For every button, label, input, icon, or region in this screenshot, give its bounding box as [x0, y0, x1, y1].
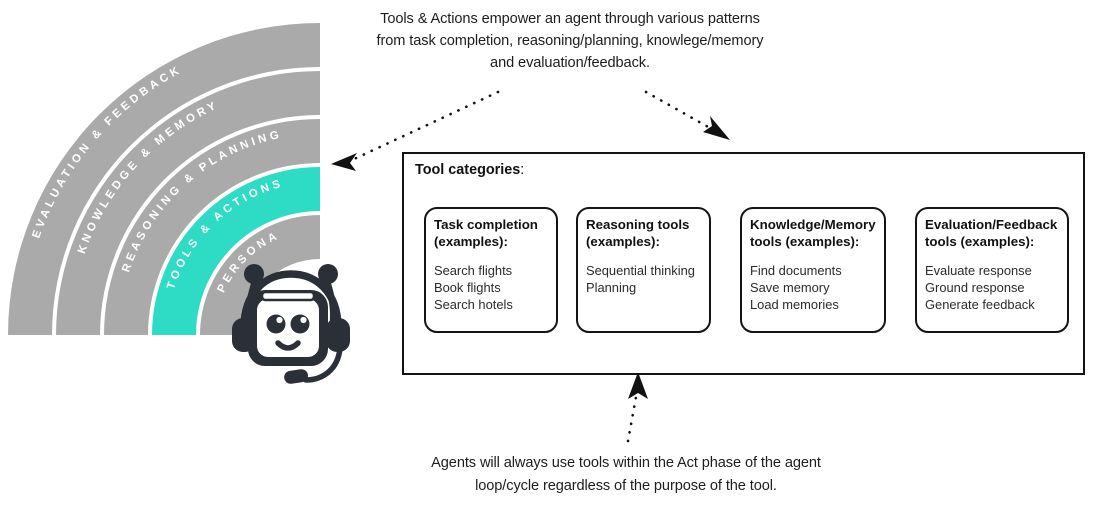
tool-card-task-completion[interactable]: Task completion (examples): Search fligh… [424, 207, 558, 333]
arrow-to-panel [646, 92, 730, 140]
tool-card-reasoning-tools[interactable]: Reasoning tools (examples): Sequential t… [576, 207, 711, 333]
tool-card-knowledge-memory-tools[interactable]: Knowledge/Memory tools (examples): Find … [740, 207, 886, 333]
tool-card-item: Search hotels [434, 297, 556, 314]
panel-title-text: Tool categories [415, 162, 520, 178]
arrowhead [628, 372, 648, 399]
robot-eye-glint-left [276, 317, 282, 323]
robot-eye-right [291, 315, 310, 334]
tool-card-title: Task completion (examples): [434, 216, 556, 250]
tool-card-evaluation-feedback-tools[interactable]: Evaluation/Feedback tools (examples): Ev… [915, 207, 1069, 333]
robot-agent-mascot-icon [222, 252, 354, 384]
robot-visor-slot [262, 292, 314, 300]
top-caption: Tools & Actions empower an agent through… [368, 8, 772, 75]
bottom-caption: Agents will always use tools within the … [398, 452, 854, 497]
tool-categories-panel: Tool categories: Task completion (exampl… [402, 152, 1085, 375]
tool-card-item: Save memory [750, 280, 884, 297]
tool-card-item: Sequential thinking [586, 263, 709, 280]
tool-card-items: Search flights Book flights Search hotel… [434, 263, 556, 314]
robot-eye-glint-right [300, 317, 306, 323]
tool-card-title: Evaluation/Feedback tools (examples): [925, 216, 1067, 250]
tool-card-item: Planning [586, 280, 709, 297]
tool-card-item: Load memories [750, 297, 884, 314]
panel-title-colon: : [520, 162, 524, 178]
tool-card-item: Ground response [925, 280, 1067, 297]
tool-card-item: Evaluate response [925, 263, 1067, 280]
tool-card-item: Generate feedback [925, 297, 1067, 314]
arrow-to-panel-bottom [628, 372, 648, 441]
tool-card-title: Knowledge/Memory tools (examples): [750, 216, 884, 250]
tool-card-items: Find documents Save memory Load memories [750, 263, 884, 314]
tool-card-item: Book flights [434, 280, 556, 297]
panel-title: Tool categories: [415, 162, 524, 178]
tool-card-item: Find documents [750, 263, 884, 280]
tool-card-item: Search flights [434, 263, 556, 280]
tool-card-title: Reasoning tools (examples): [586, 216, 709, 250]
tool-card-items: Sequential thinking Planning [586, 263, 709, 297]
arrowhead [703, 116, 730, 140]
tool-card-items: Evaluate response Ground response Genera… [925, 263, 1067, 314]
robot-eye-left [267, 315, 286, 334]
tool-cards-row: Task completion (examples): Search fligh… [424, 207, 1070, 333]
